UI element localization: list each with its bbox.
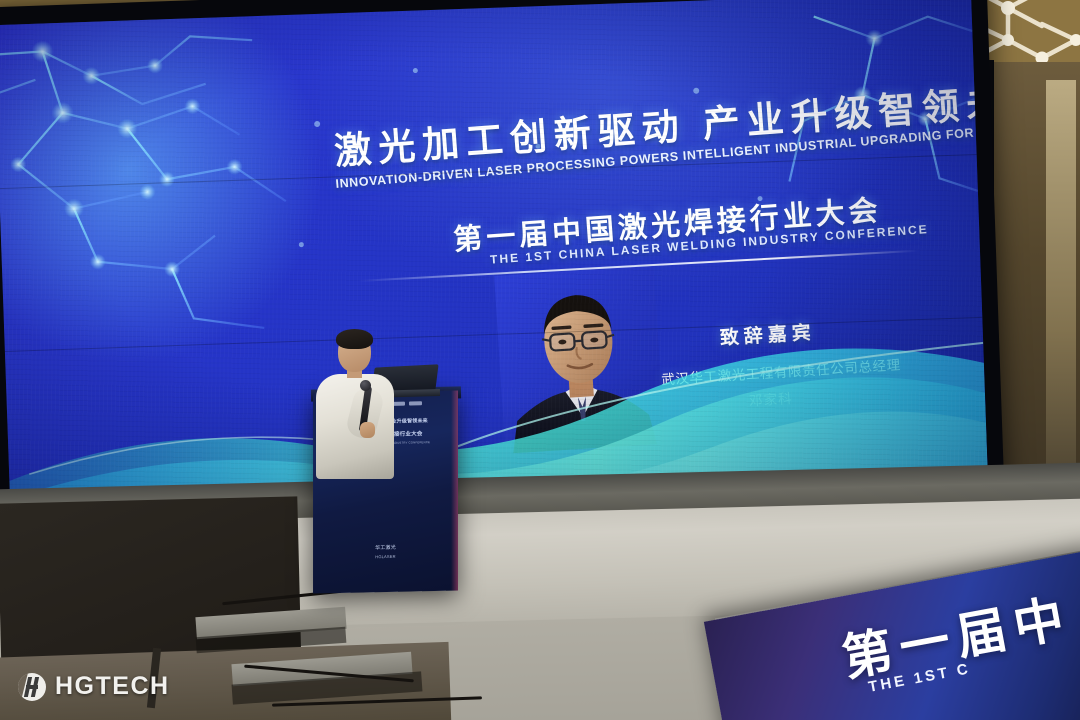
hgtech-logo-icon	[18, 673, 46, 701]
microphone-head-icon	[360, 380, 371, 391]
conference-stage-photo: 激光加工创新驱动 产业升级智领未来 INNOVATION-DRIVEN LASE…	[0, 0, 1080, 720]
led-screen-frame: 激光加工创新驱动 产业升级智领未来 INNOVATION-DRIVEN LASE…	[0, 0, 1005, 547]
speaker-person	[312, 330, 398, 480]
hgtech-brand-text: HGTECH	[55, 672, 170, 701]
led-screen: 激光加工创新驱动 产业升级智领未来 INNOVATION-DRIVEN LASE…	[0, 0, 988, 515]
hgtech-watermark: HGTECH	[18, 672, 170, 701]
podium-footer-sub: HGLASER	[313, 552, 458, 560]
speaker-hand	[360, 422, 375, 438]
wall-light-strip	[1046, 80, 1076, 500]
sponsor-logo	[409, 401, 422, 405]
podium-footer-cn: 华工激光	[313, 542, 458, 552]
led-moire-pattern	[0, 0, 988, 515]
speaker-hair	[336, 329, 373, 349]
